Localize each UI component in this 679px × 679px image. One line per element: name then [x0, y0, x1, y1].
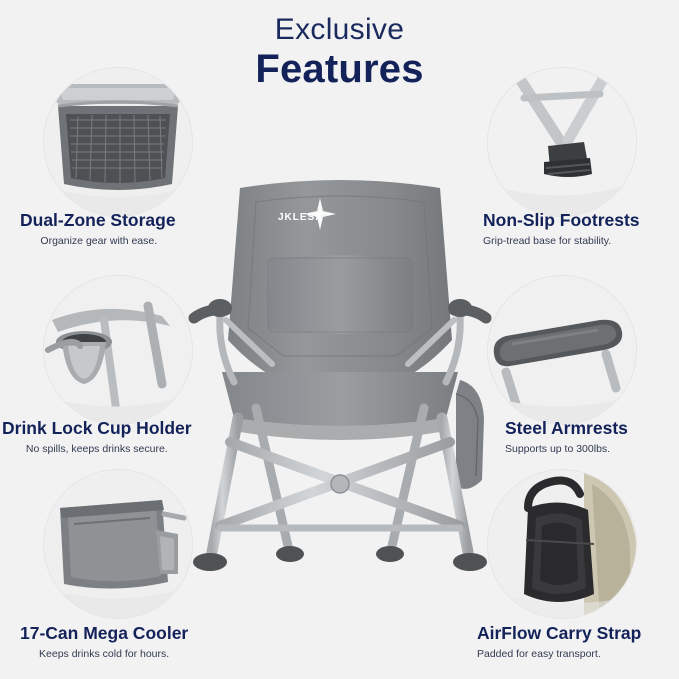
thumb-dual-zone-storage[interactable]: [44, 68, 192, 216]
feature-subtitle-non-slip-footrests: Grip-tread base for stability.: [483, 235, 640, 247]
cooler-bag-photo: [44, 470, 192, 618]
feature-subtitle-dual-zone-storage: Organize gear with ease.: [22, 235, 176, 247]
thumb-17-can-mega-cooler[interactable]: [44, 470, 192, 618]
feature-title-dual-zone-storage: Dual-Zone Storage: [20, 210, 176, 231]
caption-drink-lock-cup-holder: Drink Lock Cup Holder No spills, keeps d…: [2, 418, 192, 455]
storage-pocket-photo: [44, 68, 192, 216]
feature-title-non-slip-footrests: Non-Slip Footrests: [483, 210, 640, 231]
feature-subtitle-steel-armrests: Supports up to 300lbs.: [505, 443, 628, 455]
chair-illustration: JKLESA: [160, 150, 520, 620]
headline-line-1: Exclusive: [0, 14, 679, 46]
caption-non-slip-footrests: Non-Slip Footrests Grip-tread base for s…: [483, 210, 640, 247]
feature-subtitle-17-can-mega-cooler: Keeps drinks cold for hours.: [20, 648, 188, 660]
caption-dual-zone-storage: Dual-Zone Storage Organize gear with eas…: [20, 210, 176, 247]
foot-cap-photo: [488, 68, 636, 216]
feature-title-airflow-carry-strap: AirFlow Carry Strap: [477, 623, 641, 644]
feature-subtitle-drink-lock-cup-holder: No spills, keeps drinks secure.: [2, 443, 192, 455]
feature-title-drink-lock-cup-holder: Drink Lock Cup Holder: [2, 418, 192, 439]
armrest-photo: [488, 276, 636, 424]
carry-bag-photo: [488, 470, 636, 618]
feature-poster: Exclusive Features: [0, 0, 679, 679]
caption-17-can-mega-cooler: 17-Can Mega Cooler Keeps drinks cold for…: [20, 623, 188, 660]
caption-steel-armrests: Steel Armrests Supports up to 300lbs.: [505, 418, 628, 455]
brand-logo-text: JKLESA: [278, 212, 323, 223]
thumb-non-slip-footrests[interactable]: [488, 68, 636, 216]
thumb-airflow-carry-strap[interactable]: [488, 470, 636, 618]
chair-svg: [160, 150, 520, 620]
feature-title-steel-armrests: Steel Armrests: [505, 418, 628, 439]
thumb-drink-lock-cup-holder[interactable]: [44, 276, 192, 424]
feature-subtitle-airflow-carry-strap: Padded for easy transport.: [477, 648, 641, 660]
cup-holder-photo: [44, 276, 192, 424]
caption-airflow-carry-strap: AirFlow Carry Strap Padded for easy tran…: [477, 623, 641, 660]
thumb-steel-armrests[interactable]: [488, 276, 636, 424]
feature-title-17-can-mega-cooler: 17-Can Mega Cooler: [20, 623, 188, 644]
